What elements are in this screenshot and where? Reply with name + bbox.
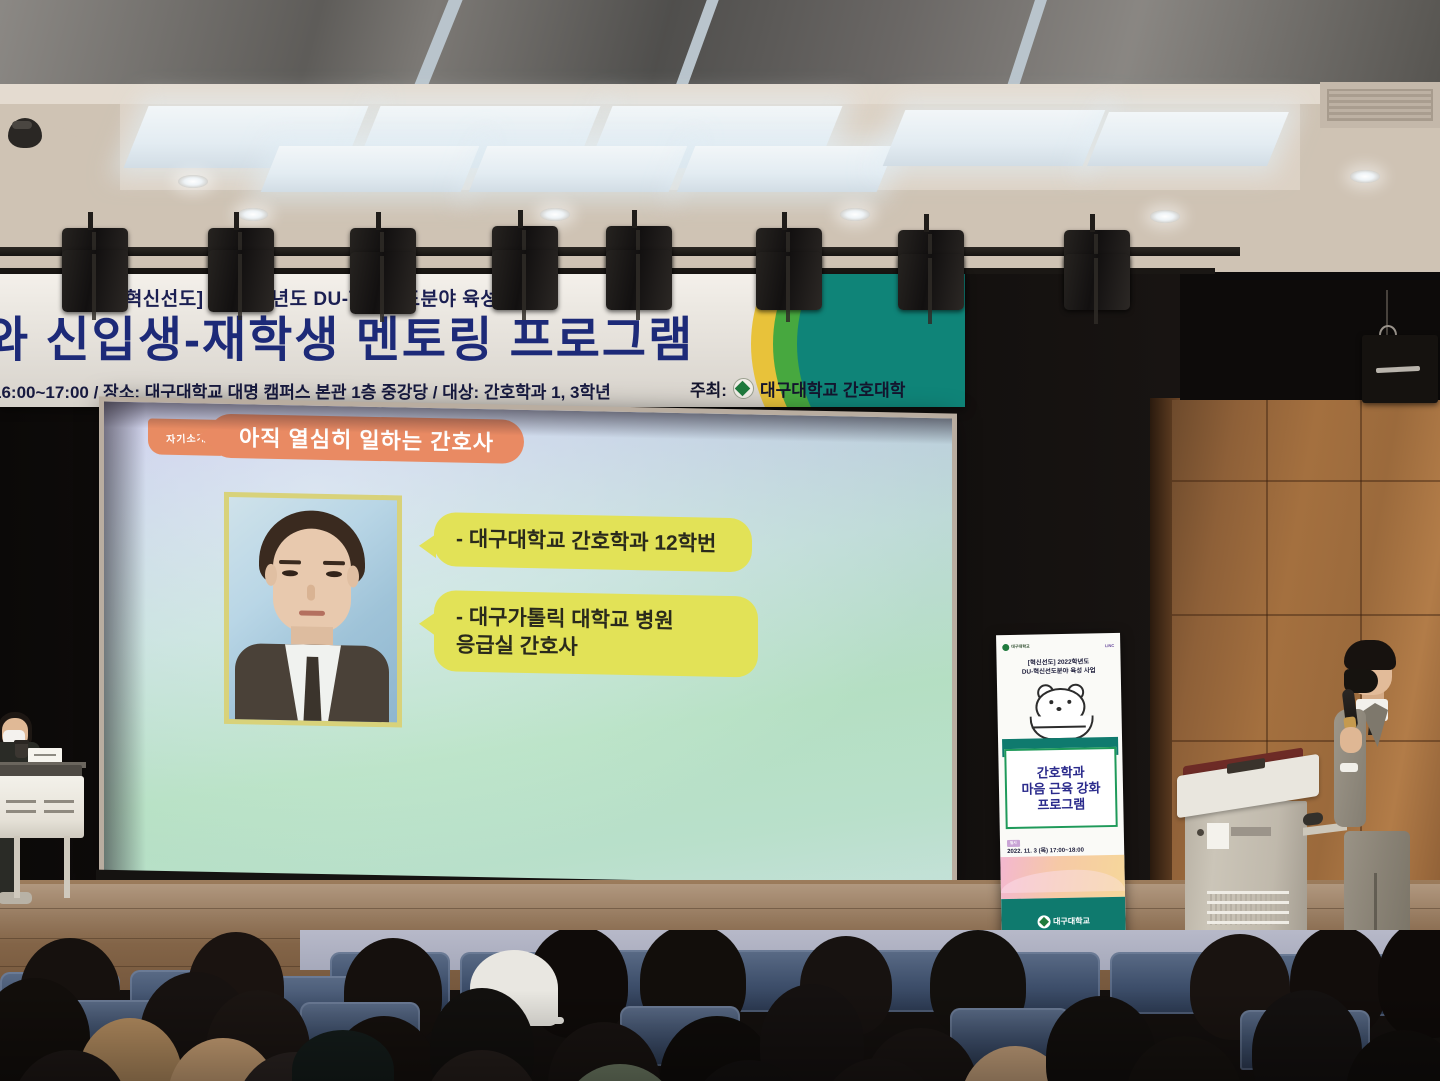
poster-logo-right: LINC — [1105, 642, 1114, 647]
banner-host: 주최: 대구대학교 간호대학 — [690, 376, 905, 401]
banner-title: 와 신입생-재학생 멘토링 프로그램 — [0, 300, 964, 370]
standing-poster: 대구대학교 LINC [혁신선도] 2022학년도 DU-혁신선도분야 육성 사… — [996, 633, 1126, 945]
portrait-inner — [229, 497, 397, 722]
panel-table-leg — [14, 836, 20, 898]
slide-bullet-bubble: - 대구대학교 간호학과 12학번 — [434, 512, 752, 572]
downlight — [178, 175, 208, 188]
poster-program-line: 간호학과 — [1037, 765, 1085, 779]
banner-host-label: 주최: — [690, 376, 727, 401]
podium — [1185, 765, 1317, 955]
portrait-ear — [347, 565, 359, 587]
poster-program-title: [혁신선도] 2022학년도 DU-혁신선도분야 육성 사업 — [1000, 657, 1116, 678]
university-emblem-icon — [1002, 643, 1009, 650]
stage-light-front — [756, 252, 822, 310]
ceiling-beam — [0, 84, 1440, 104]
stage-light-front — [1064, 254, 1130, 310]
ceiling-dark-panels — [0, 0, 1440, 92]
poster-logo-left: 대구대학교 — [1002, 643, 1030, 651]
auditorium-photo: [혁신선도] 2022학년도 DU-혁신선도분야 육성 사업 와 신입생-재학생… — [0, 0, 1440, 1081]
presenter-hair — [1344, 640, 1396, 670]
ceiling-light-panel — [469, 146, 688, 192]
podium-vents — [1207, 891, 1289, 925]
presenter-shirt-cuff — [1340, 763, 1358, 772]
stage-light-front — [898, 254, 964, 310]
downlight — [238, 208, 268, 221]
nameplate — [28, 748, 62, 763]
portrait-nose — [307, 585, 315, 601]
screen-left-shadow — [104, 401, 146, 874]
panel-table-leg — [64, 836, 70, 898]
presenter-hand — [1340, 727, 1362, 753]
downlight — [540, 208, 570, 221]
projection-screen: 자기소개 아직 열심히 일하는 간호사 — [104, 401, 952, 890]
presentation-slide: 자기소개 아직 열심히 일하는 간호사 — [104, 401, 952, 890]
podium-label-plate — [1207, 823, 1229, 849]
stage-light-front — [208, 250, 274, 312]
podium-slot — [1231, 827, 1271, 836]
portrait-eye — [282, 570, 298, 576]
air-conditioning-vent — [1320, 82, 1440, 128]
ceiling-light-panel — [677, 146, 896, 192]
presenter — [1318, 645, 1428, 975]
stage-light-front — [62, 250, 128, 312]
poster-footer-name: 대구대학교 — [1053, 915, 1090, 927]
poster-program-line: 마음 근육 강화 — [1021, 781, 1100, 796]
paper-cup — [15, 742, 28, 758]
banner-host-name: 대구대학교 간호대학 — [760, 376, 905, 401]
downlight — [840, 208, 870, 221]
wall-speaker — [1362, 335, 1438, 403]
daegu-university-emblem-icon — [733, 378, 754, 399]
portrait-face — [273, 528, 351, 634]
poster-program-line: 프로그램 — [1037, 797, 1085, 811]
stage-light-front — [606, 250, 672, 310]
stage-light-front — [492, 250, 558, 310]
downlight — [1350, 170, 1380, 183]
poster-program-name-box: 간호학과 마음 근육 강화 프로그램 — [1004, 747, 1118, 829]
slide-bullet-bubble: - 대구가톨릭 대학교 병원 응급실 간호사 — [434, 590, 758, 678]
daegu-university-emblem-icon — [1037, 915, 1050, 928]
portrait-brow — [323, 561, 345, 565]
ceiling-light-panel — [261, 146, 480, 192]
poster-logo-row: 대구대학교 LINC — [1002, 639, 1114, 653]
ceiling-light-panel — [883, 110, 1106, 166]
portrait-eye — [326, 571, 342, 577]
portrait-mouth — [299, 610, 325, 616]
slide-bullet-text: - 대구가톨릭 대학교 병원 응급실 간호사 — [456, 604, 736, 665]
security-camera-icon — [8, 118, 42, 148]
downlight — [1150, 210, 1180, 223]
tiger-mascot-icon — [1023, 685, 1096, 740]
slide-bullet-text: - 대구대학교 간호학과 12학번 — [456, 526, 730, 559]
audience — [0, 930, 1440, 1081]
portrait-ear — [265, 564, 277, 586]
slide-portrait-photo — [224, 492, 402, 728]
ceiling-light-panel — [1087, 112, 1289, 166]
portrait-brow — [279, 560, 301, 564]
stage-light-front — [350, 252, 416, 314]
panel-table-front — [0, 776, 84, 838]
podium-knob — [1197, 829, 1204, 836]
poster-meta-tag: 일시 — [1007, 840, 1020, 847]
audience-head — [1378, 930, 1440, 1038]
